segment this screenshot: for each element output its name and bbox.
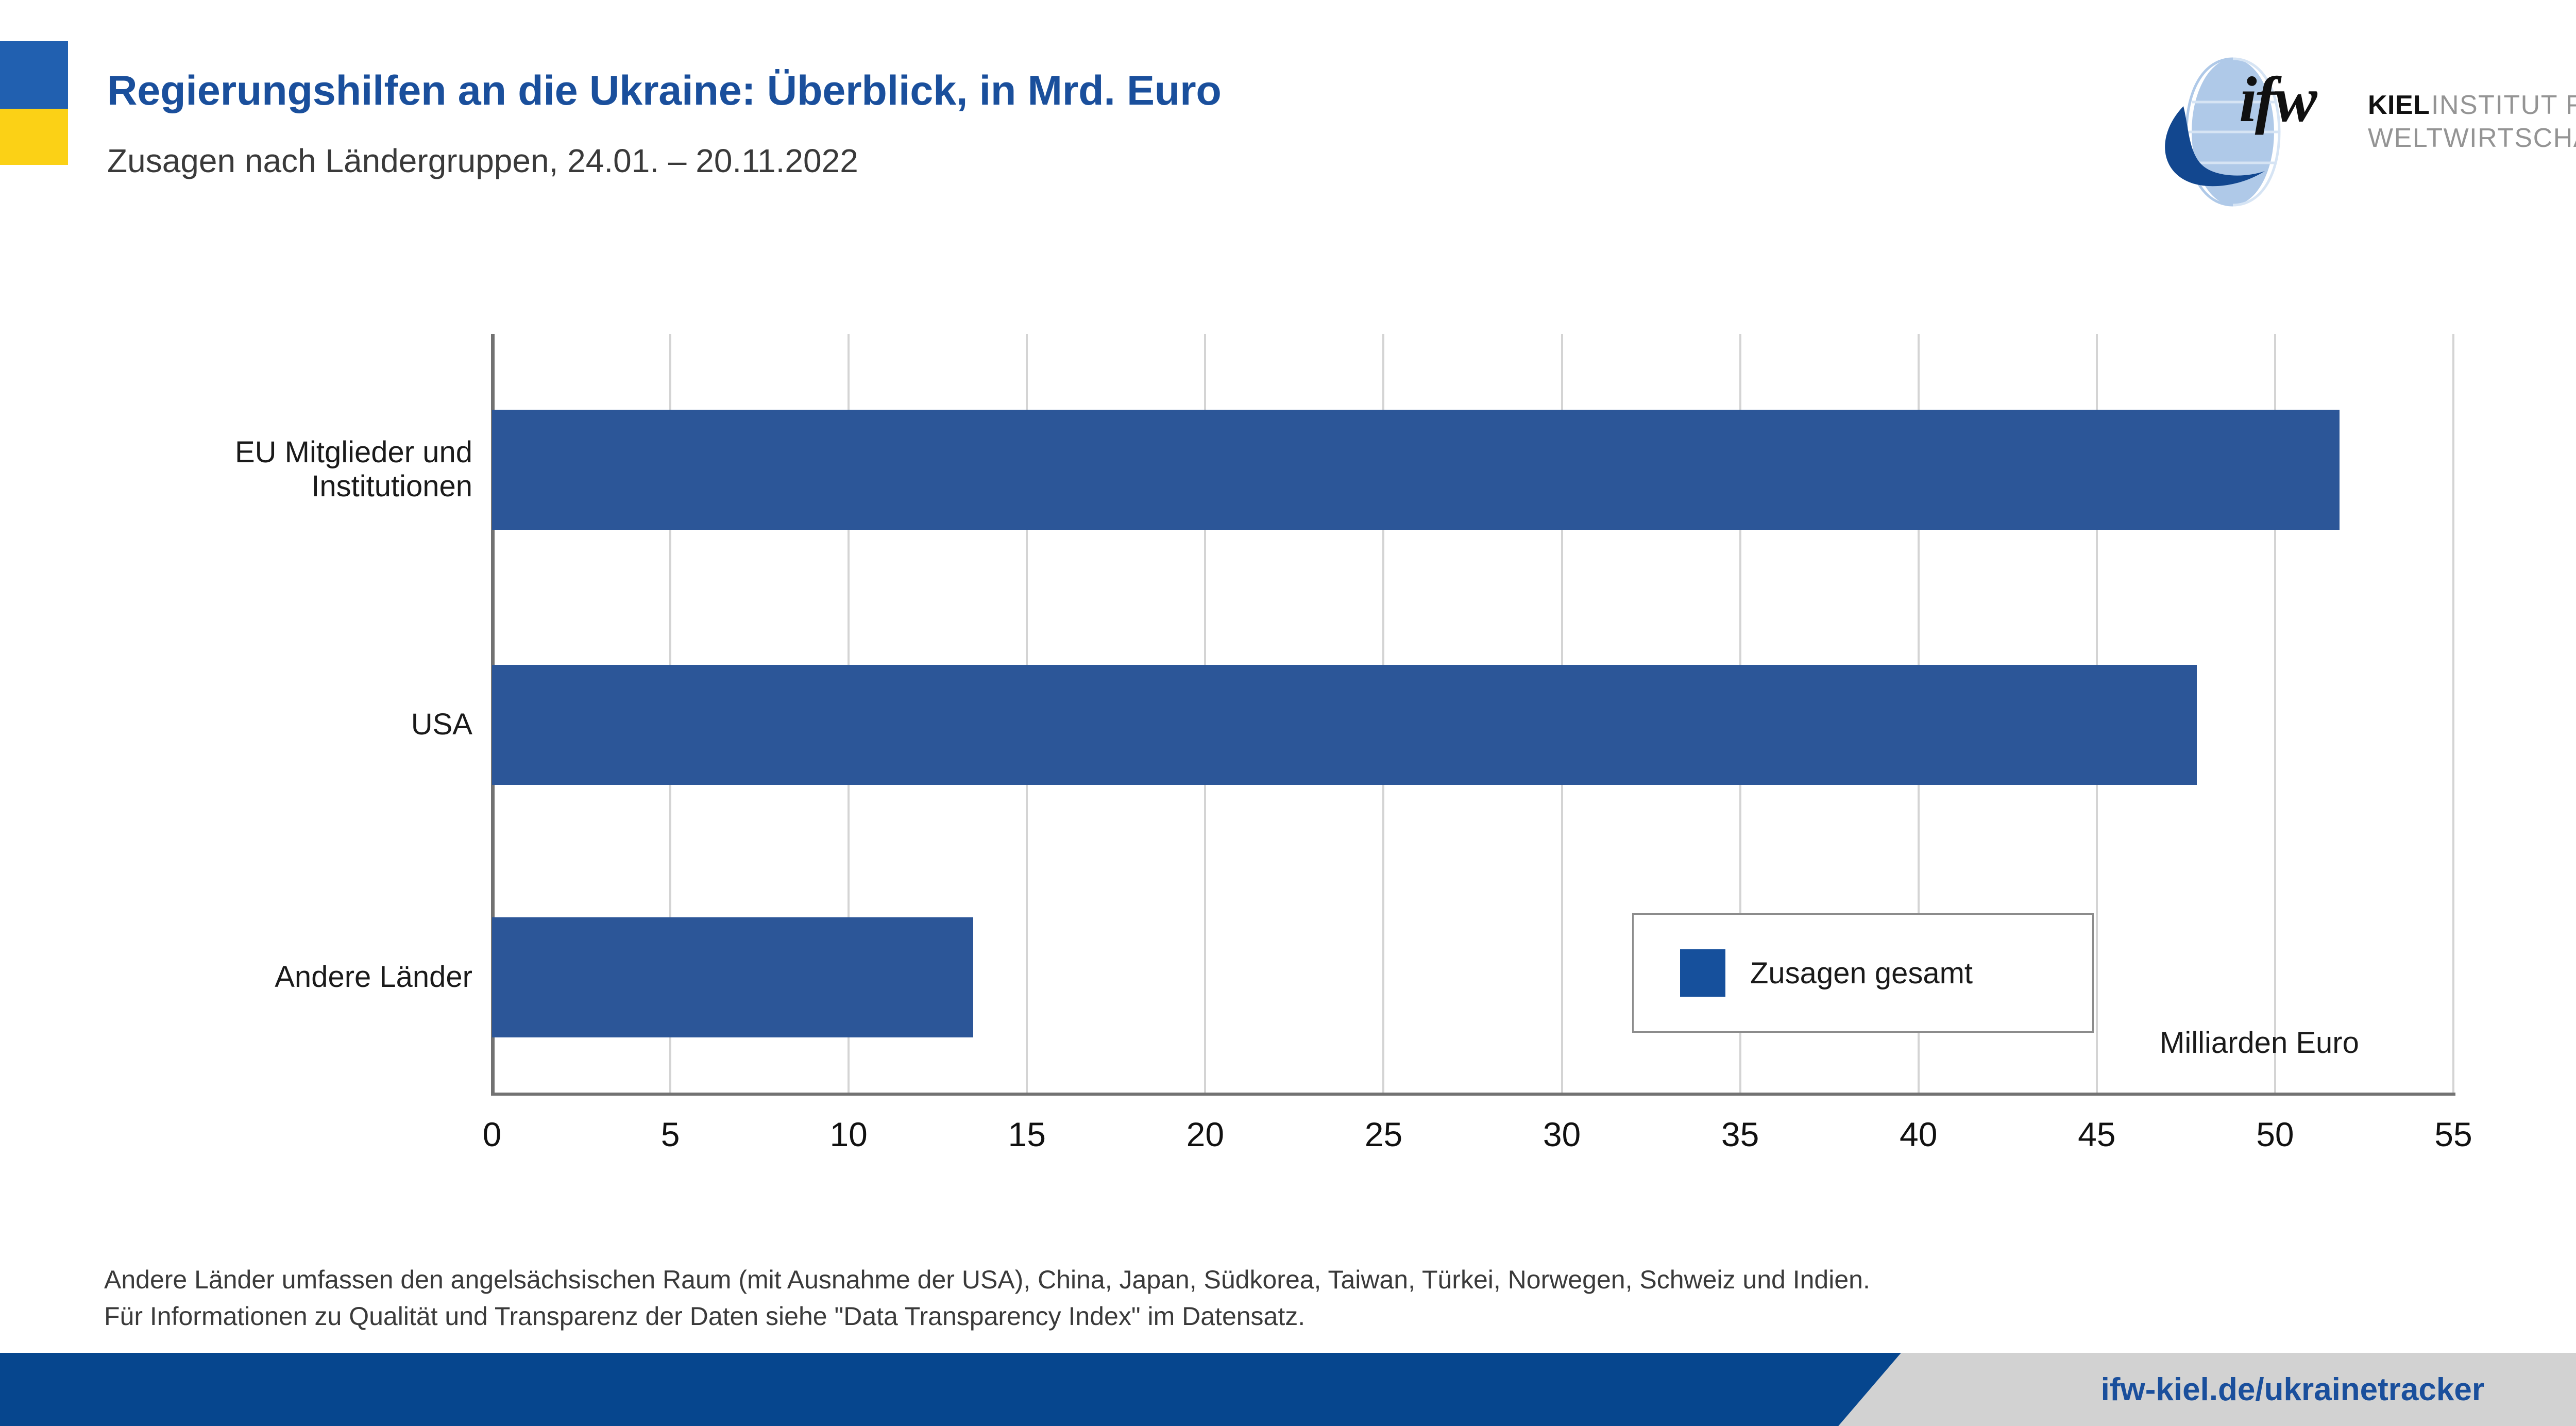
- x-axis-tick-label: 5: [619, 1115, 722, 1154]
- bar-chart: EU Mitglieder undInstitutionenUSAAndere …: [0, 0, 2576, 1426]
- chart-page: Regierungshilfen an die Ukraine: Überbli…: [0, 0, 2576, 1426]
- legend-swatch-zusagen-gesamt: [1680, 949, 1725, 997]
- y-axis-label: USA: [9, 708, 472, 742]
- x-axis-tick-label: 20: [1154, 1115, 1257, 1154]
- x-axis-tick-label: 30: [1511, 1115, 1614, 1154]
- footnote-line-2: Für Informationen zu Qualität und Transp…: [104, 1298, 1870, 1335]
- footer-url-link[interactable]: ifw-kiel.de/ukrainetracker: [2101, 1371, 2484, 1408]
- x-axis-tick-label: 40: [1867, 1115, 1970, 1154]
- footnote-line-1: Andere Länder umfassen den angelsächsisc…: [104, 1262, 1870, 1298]
- legend-label-zusagen-gesamt: Zusagen gesamt: [1750, 956, 1973, 991]
- footer-bar: ifw-kiel.de/ukrainetracker: [0, 1353, 2576, 1426]
- chart-legend[interactable]: Zusagen gesamt: [1632, 913, 2094, 1033]
- y-axis-label-line: Institutionen: [9, 469, 472, 504]
- x-axis-tick-label: 55: [2402, 1115, 2505, 1154]
- y-axis-label: Andere Länder: [9, 960, 472, 995]
- bar[interactable]: [492, 665, 2197, 785]
- bar[interactable]: [492, 917, 973, 1037]
- y-axis-label: EU Mitglieder undInstitutionen: [9, 435, 472, 504]
- bar[interactable]: [492, 410, 2340, 530]
- x-axis-tick-label: 45: [2045, 1115, 2148, 1154]
- gridline: [2452, 334, 2454, 1093]
- y-axis-label-line: USA: [9, 708, 472, 742]
- x-axis-tick-label: 35: [1689, 1115, 1792, 1154]
- x-axis-tick-label: 25: [1332, 1115, 1435, 1154]
- y-axis-label-line: EU Mitglieder und: [9, 435, 472, 470]
- x-axis-line: [491, 1093, 2455, 1096]
- y-axis-label-line: Andere Länder: [9, 960, 472, 995]
- x-axis-tick-label: 0: [440, 1115, 544, 1154]
- x-axis-tick-label: 50: [2224, 1115, 2327, 1154]
- footer-blue-band: [0, 1353, 1901, 1426]
- footnote: Andere Länder umfassen den angelsächsisc…: [104, 1262, 1870, 1335]
- x-axis-unit-label: Milliarden Euro: [2160, 1026, 2359, 1060]
- x-axis-tick-label: 10: [797, 1115, 900, 1154]
- x-axis-tick-label: 15: [975, 1115, 1078, 1154]
